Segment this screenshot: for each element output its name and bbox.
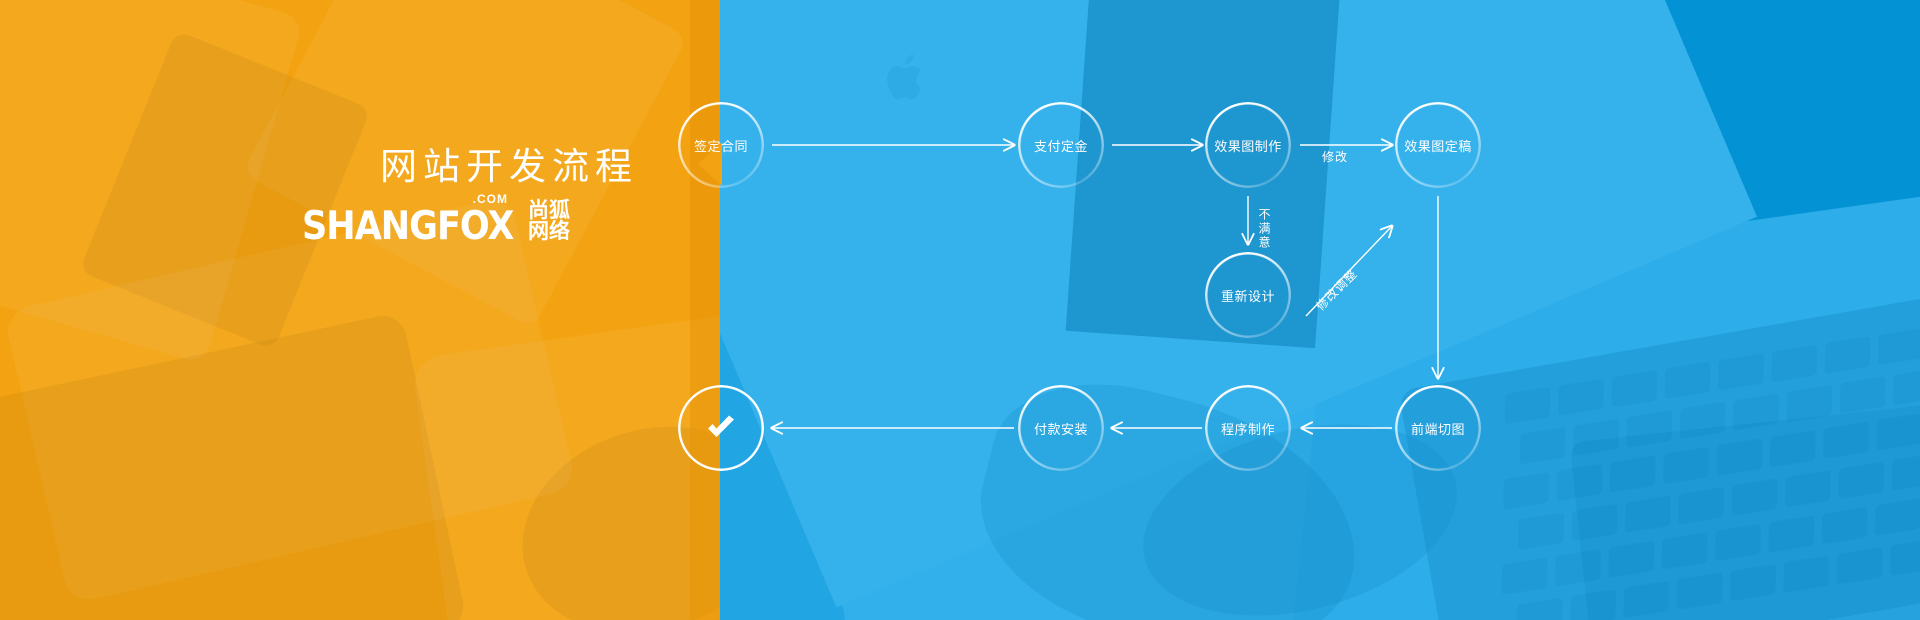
node-label: 支付定金: [1034, 136, 1088, 155]
flow-node-redesign[interactable]: 重新设计: [1205, 252, 1291, 338]
edge-label-unsatisfied: 不满意: [1256, 208, 1273, 250]
flow-node-mockup-production[interactable]: 效果图制作: [1205, 102, 1291, 188]
flow-node-sign-contract[interactable]: 签定合同: [678, 102, 764, 188]
flow-connectors: [0, 0, 1920, 620]
flow-node-pay-deposit[interactable]: 支付定金: [1018, 102, 1104, 188]
flow-node-completed[interactable]: [678, 385, 764, 471]
flow-node-program-build[interactable]: 程序制作: [1205, 385, 1291, 471]
node-label: 效果图定稿: [1404, 136, 1472, 155]
node-label: 付款安装: [1034, 419, 1088, 438]
node-label: 重新设计: [1221, 286, 1275, 305]
node-label: 效果图制作: [1214, 136, 1282, 155]
node-label: 前端切图: [1411, 419, 1465, 438]
flow-node-mockup-final[interactable]: 效果图定稿: [1395, 102, 1481, 188]
workflow-diagram: 修改 不满意 修改调整 签定合同 支付定金 效果图制作 效果图定稿 重新设计 前…: [0, 0, 1920, 620]
page-root: 网站开发流程 SHANGFOX .COM 尚狐 网络: [0, 0, 1920, 620]
edge-label-revise: 修改: [1322, 148, 1348, 165]
node-label: 程序制作: [1221, 419, 1275, 438]
flow-node-pay-install[interactable]: 付款安装: [1018, 385, 1104, 471]
flow-node-frontend-slicing[interactable]: 前端切图: [1395, 385, 1481, 471]
node-label: 签定合同: [694, 136, 748, 155]
check-icon: [704, 411, 738, 445]
